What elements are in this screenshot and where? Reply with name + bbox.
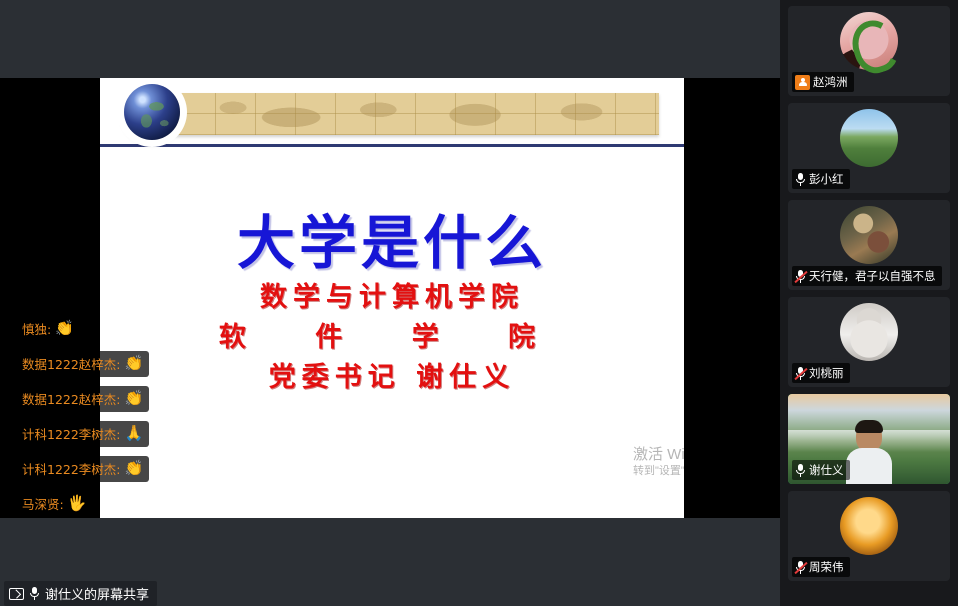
clapping-hands-emoji: 👏: [125, 461, 144, 476]
participant-tile[interactable]: 周荣伟: [788, 491, 950, 581]
screen-share-icon: [9, 588, 24, 600]
participant-name: 刘桃丽: [809, 365, 844, 381]
clapping-hands-emoji: 👏: [125, 391, 144, 406]
name-badge: 天行健，君子以自强不息: [792, 266, 942, 286]
presentation-slide: 大学是什么 数学与计算机学院 软 件 学 院 党委书记 谢仕义 激活 Windo…: [100, 78, 684, 518]
chat-message: 计科1222李树杰: 👏: [14, 456, 149, 482]
mic-muted-icon: [795, 367, 806, 380]
slide-subtitle-block: 数学与计算机学院 软 件 学 院 党委书记 谢仕义: [100, 278, 684, 398]
windows-activation-watermark: 激活 Windows 转到"设置"以激活 Windows。: [633, 446, 684, 478]
slide-subtitle-line: 数学与计算机学院: [100, 278, 684, 318]
clapping-hands-emoji: 👏: [55, 321, 74, 336]
slide-title: 大学是什么: [100, 196, 684, 280]
chat-message: 马深贤: 🖐: [14, 491, 92, 517]
raised-hand-emoji: 🖐: [68, 496, 87, 511]
chat-author: 数据1222赵梓杰:: [22, 354, 121, 373]
avatar: [840, 109, 898, 167]
avatar: [840, 303, 898, 361]
name-badge: 刘桃丽: [792, 363, 850, 383]
participant-tile[interactable]: 赵鸿洲: [788, 6, 950, 96]
participant-name: 彭小红: [809, 171, 844, 187]
participant-name: 谢仕义: [809, 462, 844, 478]
name-badge: 彭小红: [792, 169, 850, 189]
stage-top-letterbox: [0, 0, 780, 78]
participant-name: 赵鸿洲: [813, 74, 848, 90]
chat-message: 数据1222赵梓杰: 👏: [14, 386, 149, 412]
chat-overlay: 慎独: 👏 数据1222赵梓杰: 👏 数据1222赵梓杰: 👏 计科1222李树…: [0, 316, 165, 518]
participant-tile-active-speaker[interactable]: 谢仕义: [788, 394, 950, 484]
name-badge: 周荣伟: [792, 557, 850, 577]
participant-name: 周荣伟: [809, 559, 844, 575]
meeting-window: 大学是什么 数学与计算机学院 软 件 学 院 党委书记 谢仕义 激活 Windo…: [0, 0, 958, 606]
globe-icon: [124, 84, 180, 140]
chat-message: 慎独: 👏: [14, 316, 80, 342]
participant-tile[interactable]: 彭小红: [788, 103, 950, 193]
folded-hands-emoji: 🙏: [125, 426, 144, 441]
chat-author: 计科1222李树杰:: [22, 424, 121, 443]
chat-author: 慎独:: [22, 319, 51, 338]
chat-message: 计科1222李树杰: 🙏: [14, 421, 149, 447]
clapping-hands-emoji: 👏: [125, 356, 144, 371]
chat-author: 计科1222李树杰:: [22, 459, 121, 478]
avatar: [840, 206, 898, 264]
participant-rail[interactable]: 赵鸿洲 彭小红 天行健，君子以自强不息: [780, 0, 958, 606]
share-stage: 大学是什么 数学与计算机学院 软 件 学 院 党委书记 谢仕义 激活 Windo…: [0, 0, 780, 606]
slide-subtitle-line: 软 件 学 院: [100, 318, 684, 358]
screen-share-label: 谢仕义的屏幕共享: [45, 584, 149, 603]
chat-author: 数据1222赵梓杰:: [22, 389, 121, 408]
speaker-silhouette: [846, 422, 892, 484]
host-person-icon: [795, 75, 810, 90]
participant-name: 天行健，君子以自强不息: [809, 268, 936, 284]
world-map-banner: [175, 93, 659, 135]
chat-message: 数据1222赵梓杰: 👏: [14, 351, 149, 377]
participant-tile[interactable]: 刘桃丽: [788, 297, 950, 387]
name-badge: 赵鸿洲: [792, 72, 854, 92]
name-badge: 谢仕义: [792, 460, 850, 480]
slide-header-rule: [100, 144, 684, 147]
chat-author: 马深贤:: [22, 494, 64, 513]
avatar: [840, 12, 898, 70]
slide-subtitle-line: 党委书记 谢仕义: [100, 358, 684, 398]
avatar: [840, 497, 898, 555]
participant-tile[interactable]: 天行健，君子以自强不息: [788, 200, 950, 290]
watermark-line-1: 激活 Windows: [633, 446, 684, 464]
mic-icon: [795, 173, 806, 186]
shared-screen-canvas[interactable]: 大学是什么 数学与计算机学院 软 件 学 院 党委书记 谢仕义 激活 Windo…: [0, 78, 780, 518]
screen-share-status: 谢仕义的屏幕共享: [4, 581, 157, 606]
mic-muted-icon: [795, 270, 806, 283]
watermark-line-2: 转到"设置"以激活 Windows。: [633, 464, 684, 478]
mic-icon: [795, 464, 806, 477]
mic-muted-icon: [795, 561, 806, 574]
mic-icon: [29, 587, 40, 600]
